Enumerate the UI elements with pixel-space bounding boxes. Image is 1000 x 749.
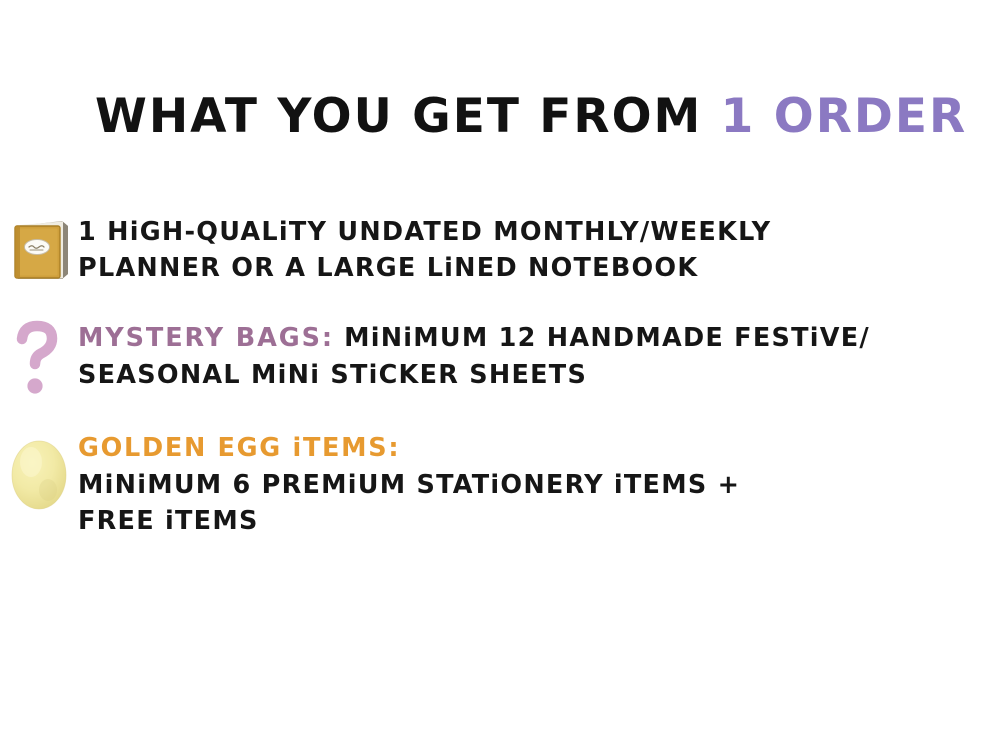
page-title-primary: WHAT YOU GET FROM [95,89,721,144]
benefits-list: 1 HiGH-QUALiTY UNDATED MONTHLY/WEEKLY PL… [0,212,1000,561]
list-item: MYSTERY BAGS: MiNiMUM 12 HANDMADE FESTiV… [0,318,1000,396]
egg-icon [0,428,78,514]
list-item-text: GOLDEN EGG iTEMS: MiNiMUM 6 PREMiUM STAT… [78,428,1000,539]
page-title: WHAT YOU GET FROM 1 ORDER [95,92,925,143]
list-item-text: 1 HiGH-QUALiTY UNDATED MONTHLY/WEEKLY PL… [78,212,1000,286]
slide-canvas: WHAT YOU GET FROM 1 ORDER [0,0,1000,749]
mystery-bags-detail: MiNiMUM 12 HANDMADE FESTiVE/ [334,323,870,353]
list-item-line: FREE iTEMS [78,503,1000,539]
list-item-line: SEASONAL MiNi STiCKER SHEETS [78,357,1000,393]
list-item: GOLDEN EGG iTEMS: MiNiMUM 6 PREMiUM STAT… [0,428,1000,539]
notebook-icon [0,212,78,284]
mystery-bags-label: MYSTERY BAGS: [78,323,334,353]
list-item-line: MYSTERY BAGS: MiNiMUM 12 HANDMADE FESTiV… [78,320,1000,356]
list-item-line: MiNiMUM 6 PREMiUM STATiONERY iTEMS + [78,467,1000,503]
golden-egg-label: GOLDEN EGG iTEMS: [78,433,400,463]
list-item-line: PLANNER OR A LARGE LiNED NOTEBOOK [78,250,1000,286]
list-item-text: MYSTERY BAGS: MiNiMUM 12 HANDMADE FESTiV… [78,318,1000,392]
list-item-line: GOLDEN EGG iTEMS: [78,430,1000,466]
list-item: 1 HiGH-QUALiTY UNDATED MONTHLY/WEEKLY PL… [0,212,1000,286]
page-title-accent: 1 ORDER [721,89,968,144]
question-mark-icon [0,318,78,396]
list-item-line: 1 HiGH-QUALiTY UNDATED MONTHLY/WEEKLY [78,214,1000,250]
